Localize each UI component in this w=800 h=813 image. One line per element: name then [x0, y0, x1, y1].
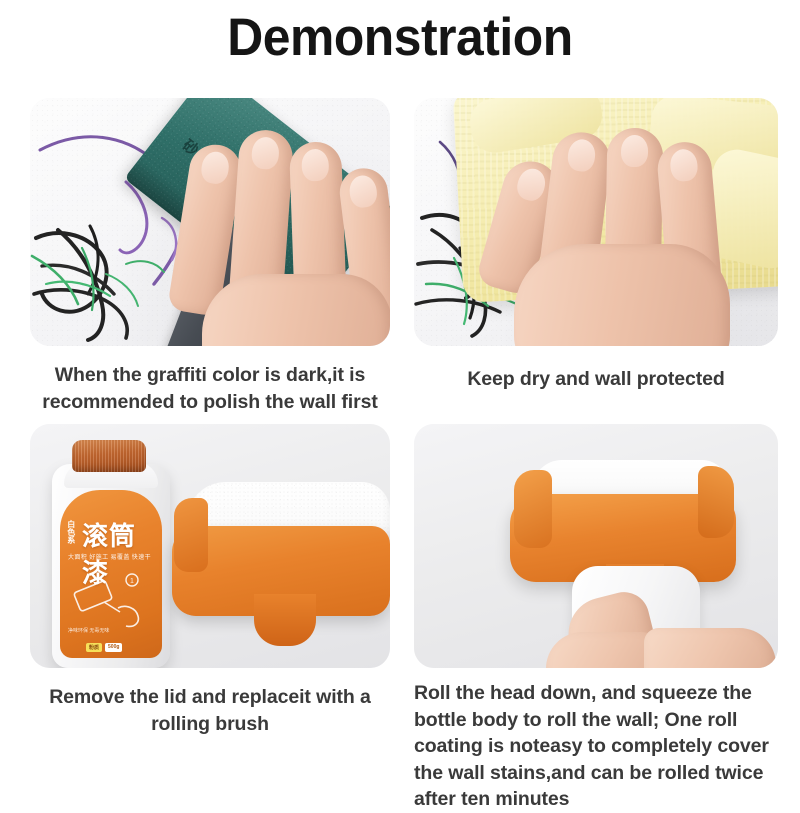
label-fine-print: 净味环保 无毒无味 [68, 628, 154, 636]
roller-arm-left [174, 498, 208, 572]
bottle-label: 白色系 滚筒漆 大面积 好施工 易覆盖 快速干 1 净味环保 无毒无味 粉质 5… [60, 490, 162, 658]
paint-bottle: 白色系 滚筒漆 大面积 好施工 易覆盖 快速干 1 净味环保 无毒无味 粉质 5… [52, 440, 170, 668]
demo-step-4: Roll the head down, and squeeze the bott… [414, 424, 778, 813]
step-1-caption: When the graffiti color is dark,it is re… [30, 362, 390, 415]
demonstration-steps-grid: DELAOCA CLEAN 砂纸 S 12 [0, 98, 800, 800]
fingernail [251, 136, 280, 170]
roller-line-art-icon: 1 [70, 568, 154, 630]
palm-edge [644, 628, 776, 668]
demo-step-1: DELAOCA CLEAN 砂纸 S 12 [30, 98, 390, 415]
label-badges: 粉质 500g [86, 643, 122, 652]
bottle-cap [72, 440, 146, 472]
fingernail [514, 165, 549, 203]
demo-step-2: Keep dry and wall protected [414, 98, 778, 393]
demo-step-3: 白色系 滚筒漆 大面积 好施工 易覆盖 快速干 1 净味环保 无毒无味 粉质 5… [30, 424, 390, 737]
svg-text:1: 1 [130, 578, 134, 585]
page-title: Demonstration [24, 10, 776, 66]
fingernail [348, 174, 379, 209]
roller-brush-head [172, 482, 390, 650]
step-2-caption: Keep dry and wall protected [414, 366, 778, 393]
fingernail [621, 135, 649, 167]
hand-wiping [492, 116, 744, 346]
label-badge-left: 粉质 [86, 643, 102, 652]
photo-wiping-wall-with-cloth [414, 98, 778, 346]
fingernail [301, 149, 329, 182]
photo-sanding-block-on-graffiti-wall: DELAOCA CLEAN 砂纸 S 12 [30, 98, 390, 346]
fingernail [669, 148, 699, 182]
palm [514, 244, 730, 346]
label-badge-right: 500g [105, 643, 122, 652]
fingernail [199, 150, 231, 186]
roller-arm-right [698, 466, 734, 538]
palm [202, 274, 390, 346]
hand-squeezing-bottle [532, 582, 770, 668]
hand-holding-block [172, 122, 390, 346]
label-sub-text: 大面积 好施工 易覆盖 快速干 [68, 552, 151, 561]
step-3-caption: Remove the lid and replaceit with a roll… [30, 684, 390, 737]
fingernail [566, 138, 597, 173]
roller-arm-left [514, 470, 552, 548]
label-side-text: 白色系 [66, 520, 75, 544]
roller-stem [254, 594, 316, 646]
step-4-caption: Roll the head down, and squeeze the bott… [414, 680, 778, 813]
photo-rolling-paint-onto-wall [414, 424, 778, 668]
photo-bottle-and-roller-head: 白色系 滚筒漆 大面积 好施工 易覆盖 快速干 1 净味环保 无毒无味 粉质 5… [30, 424, 390, 668]
